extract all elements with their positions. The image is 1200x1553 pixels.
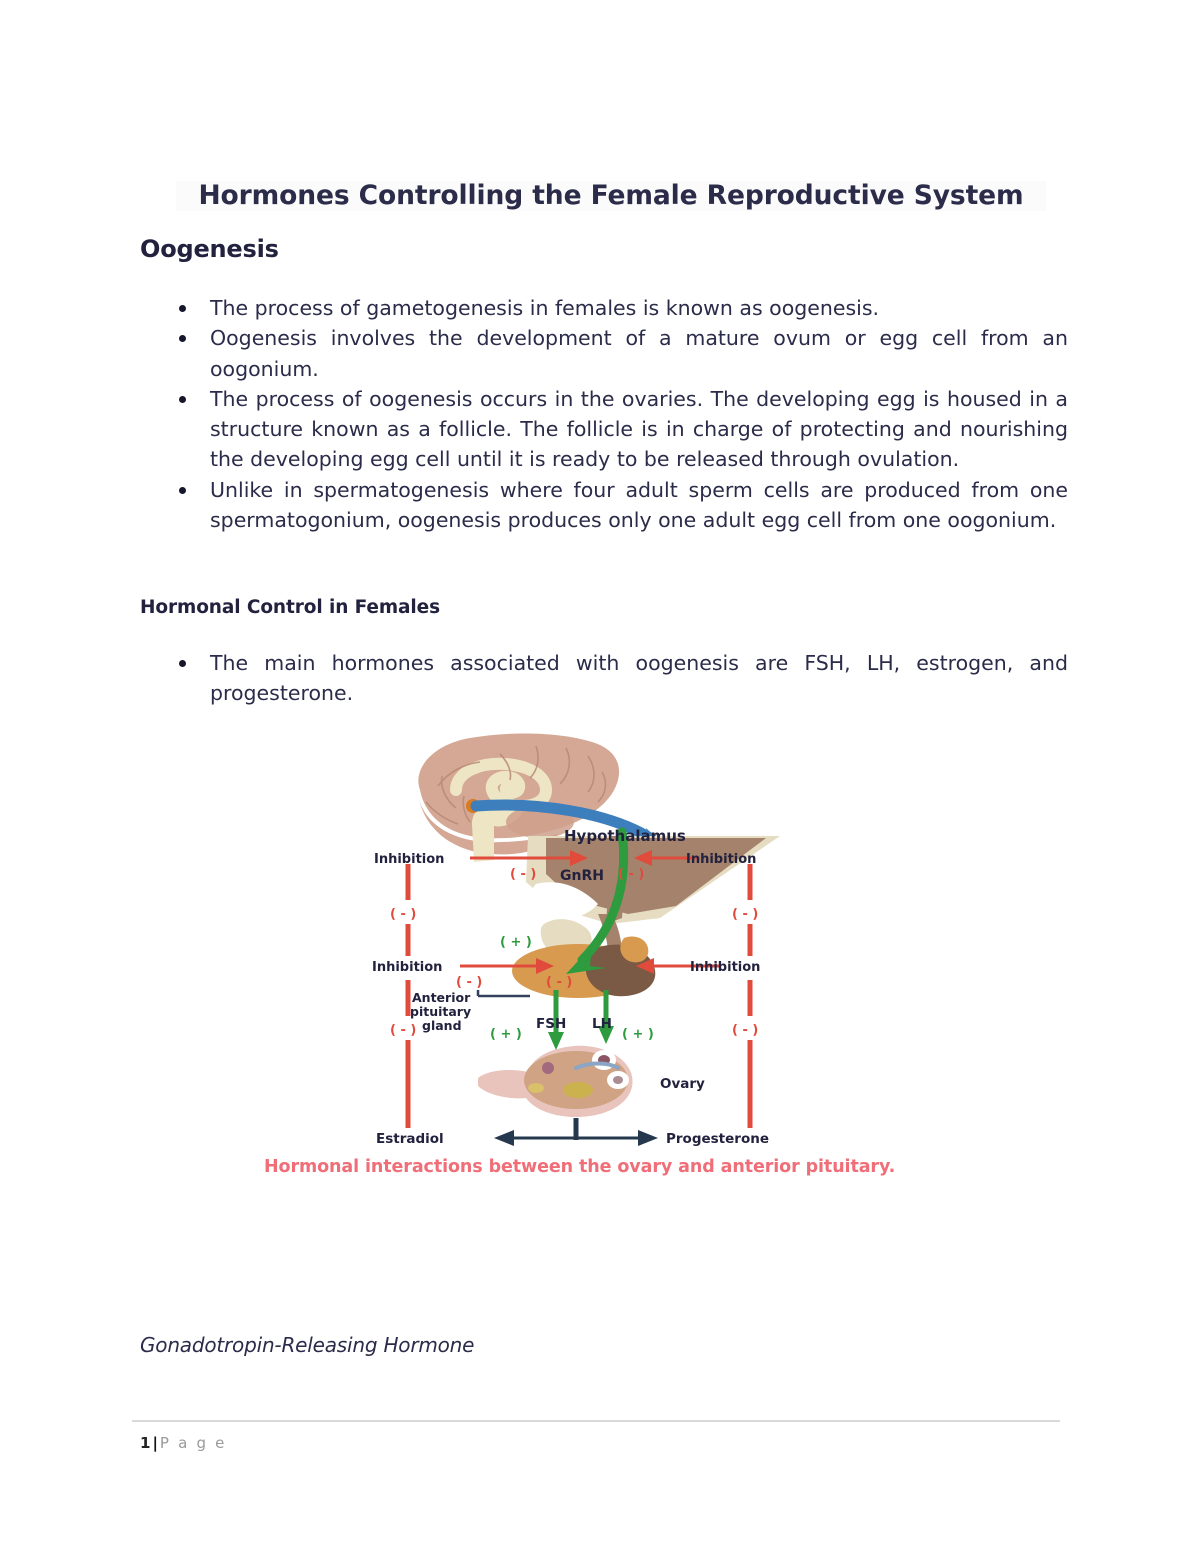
label-anterior-pituitary-line1: Anterior [412, 990, 471, 1005]
list-item: The process of oogenesis occurs in the o… [168, 384, 1068, 475]
sign-neg-left-lower: ( - ) [390, 1023, 416, 1038]
list-item: Unlike in spermatogenesis where four adu… [168, 475, 1068, 536]
inhibition-arrow-pituitary-left [460, 958, 554, 974]
subheading-gonadotropin-releasing-hormone: Gonadotropin-Releasing Hormone [140, 1333, 474, 1357]
label-inhibition-mid-right: Inhibition [690, 960, 760, 975]
sign-pos-lh: ( + ) [622, 1027, 654, 1042]
footer-page-number: 1 [140, 1434, 150, 1452]
sign-pos-pituitary: ( + ) [500, 935, 532, 950]
list-item: The main hormones associated with oogene… [168, 648, 1068, 709]
label-hypothalamus: Hypothalamus [564, 827, 686, 845]
footer-divider [132, 1420, 1060, 1422]
page-footer: 1|P a g e [140, 1434, 227, 1452]
page-title: Hormones Controlling the Female Reproduc… [176, 181, 1046, 211]
ovary-illustration [478, 1046, 633, 1117]
figure-caption: Hormonal interactions between the ovary … [264, 1157, 924, 1177]
sign-neg-pituitary-left: ( - ) [456, 975, 482, 990]
sign-neg-pituitary-center: ( - ) [546, 975, 572, 990]
section-heading-oogenesis: Oogenesis [140, 235, 279, 263]
oogenesis-bullet-list: The process of gametogenesis in females … [168, 293, 1068, 535]
footer-separator: | [150, 1434, 159, 1452]
label-anterior-pituitary-line3: gland [422, 1018, 462, 1033]
sign-neg-left-upper: ( - ) [390, 907, 416, 922]
label-gnrh: GnRH [560, 868, 604, 884]
sign-neg-right-lower: ( - ) [732, 1023, 758, 1038]
sign-neg-right-upper: ( - ) [732, 907, 758, 922]
label-inhibition-top-right: Inhibition [686, 852, 756, 867]
label-anterior-pituitary-line2: pituitary [410, 1004, 471, 1019]
hormone-feedback-diagram: Hypothalamus GnRH Inhibition Inhibition … [360, 728, 790, 1148]
sign-neg-hypothalamus-right: ( - ) [618, 867, 644, 882]
list-item: The process of gametogenesis in females … [168, 293, 1068, 323]
label-estradiol: Estradiol [376, 1131, 444, 1147]
footer-page-word: P a g e [160, 1434, 227, 1452]
list-item: Oogenesis involves the development of a … [168, 323, 1068, 384]
label-inhibition-top-left: Inhibition [374, 852, 444, 867]
anterior-pituitary-leader [478, 990, 530, 996]
label-progesterone: Progesterone [666, 1131, 769, 1147]
label-ovary: Ovary [660, 1076, 705, 1092]
document-page: Hormones Controlling the Female Reproduc… [0, 0, 1200, 1553]
estradiol-progesterone-splitter [494, 1118, 658, 1146]
sign-pos-fsh: ( + ) [490, 1027, 522, 1042]
label-inhibition-mid-left: Inhibition [372, 960, 442, 975]
label-fsh: FSH [536, 1016, 566, 1032]
label-lh: LH [592, 1016, 612, 1032]
sign-neg-hypothalamus-left: ( - ) [510, 867, 536, 882]
hormonal-control-bullet-list: The main hormones associated with oogene… [168, 648, 1068, 709]
section-heading-hormonal-control: Hormonal Control in Females [140, 597, 440, 618]
